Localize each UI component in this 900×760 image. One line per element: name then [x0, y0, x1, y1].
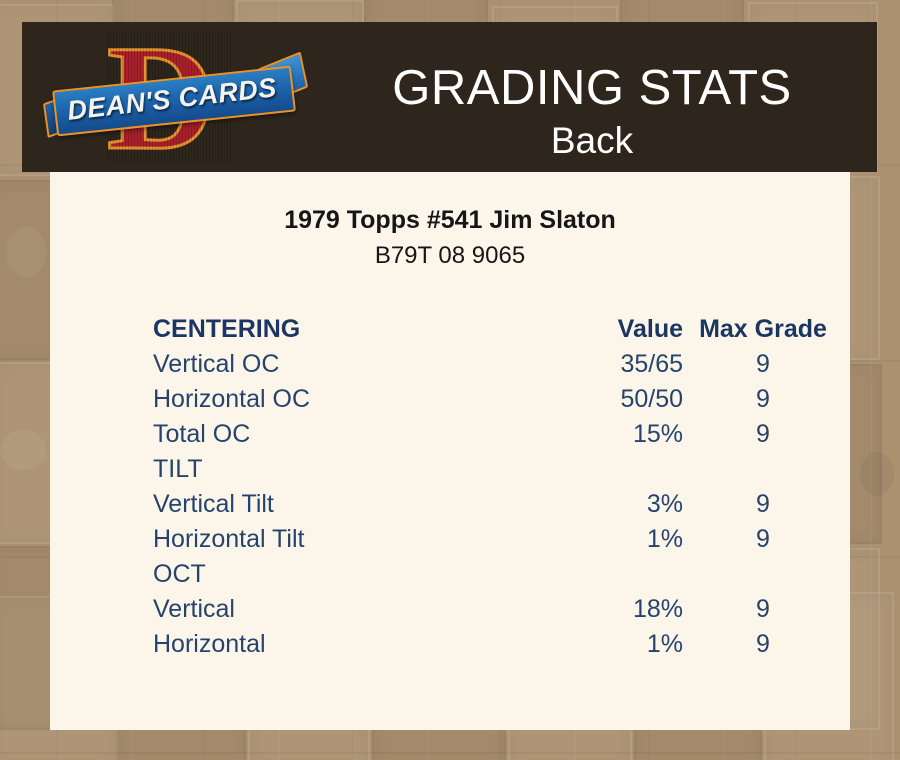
column-header-max-grade: Max Grade [683, 312, 843, 347]
card-title: 1979 Topps #541 Jim Slaton [50, 206, 850, 235]
table-row: Total OC 15% 9 [153, 417, 843, 452]
row-max-grade: 9 [683, 347, 843, 382]
row-value: 50/50 [498, 382, 683, 417]
row-value: 1% [498, 627, 683, 662]
section-header-tilt: TILT [153, 452, 843, 487]
section-grade-spacer [683, 452, 843, 487]
card-serial-number: B79T 08 9065 [50, 242, 850, 270]
table-row: Horizontal OC 50/50 9 [153, 382, 843, 417]
row-value: 35/65 [498, 347, 683, 382]
section-value-spacer [498, 557, 683, 592]
deans-cards-logo[interactable]: D DEAN'S CARDS [52, 30, 292, 165]
row-value: 18% [498, 592, 683, 627]
table-row: Vertical OC 35/65 9 [153, 347, 843, 382]
row-value: 15% [498, 417, 683, 452]
content-panel: 1979 Topps #541 Jim Slaton B79T 08 9065 … [50, 172, 850, 730]
row-max-grade: 9 [683, 522, 843, 557]
table-row: Vertical 18% 9 [153, 592, 843, 627]
table-row: Horizontal Tilt 1% 9 [153, 522, 843, 557]
page-subtitle: Back [312, 120, 872, 162]
section-value-spacer [498, 452, 683, 487]
row-label: Vertical OC [153, 347, 498, 382]
row-label: Vertical Tilt [153, 487, 498, 522]
column-header-value: Value [498, 312, 683, 347]
row-label: Vertical [153, 592, 498, 627]
row-value: 1% [498, 522, 683, 557]
row-max-grade: 9 [683, 627, 843, 662]
logo-ribbon-banner: DEAN'S CARDS [52, 72, 292, 128]
column-header-centering: CENTERING [153, 312, 498, 347]
row-label: Horizontal [153, 627, 498, 662]
section-grade-spacer [683, 557, 843, 592]
section-label: TILT [153, 452, 498, 487]
grading-stats-table: CENTERING Value Max Grade Vertical OC 35… [153, 312, 843, 662]
row-label: Total OC [153, 417, 498, 452]
row-max-grade: 9 [683, 382, 843, 417]
row-label: Horizontal Tilt [153, 522, 498, 557]
grading-stats-page: D DEAN'S CARDS GRADING STATS Back 1979 T… [0, 0, 900, 760]
row-label: Horizontal OC [153, 382, 498, 417]
row-max-grade: 9 [683, 487, 843, 522]
row-max-grade: 9 [683, 592, 843, 627]
row-max-grade: 9 [683, 417, 843, 452]
section-label: OCT [153, 557, 498, 592]
page-title: GRADING STATS [312, 60, 872, 116]
table-header-row: CENTERING Value Max Grade [153, 312, 843, 347]
section-header-oct: OCT [153, 557, 843, 592]
row-value: 3% [498, 487, 683, 522]
table-row: Horizontal 1% 9 [153, 627, 843, 662]
grading-stats-body: CENTERING Value Max Grade Vertical OC 35… [153, 312, 843, 662]
table-row: Vertical Tilt 3% 9 [153, 487, 843, 522]
header-bar: D DEAN'S CARDS GRADING STATS Back [22, 22, 877, 172]
